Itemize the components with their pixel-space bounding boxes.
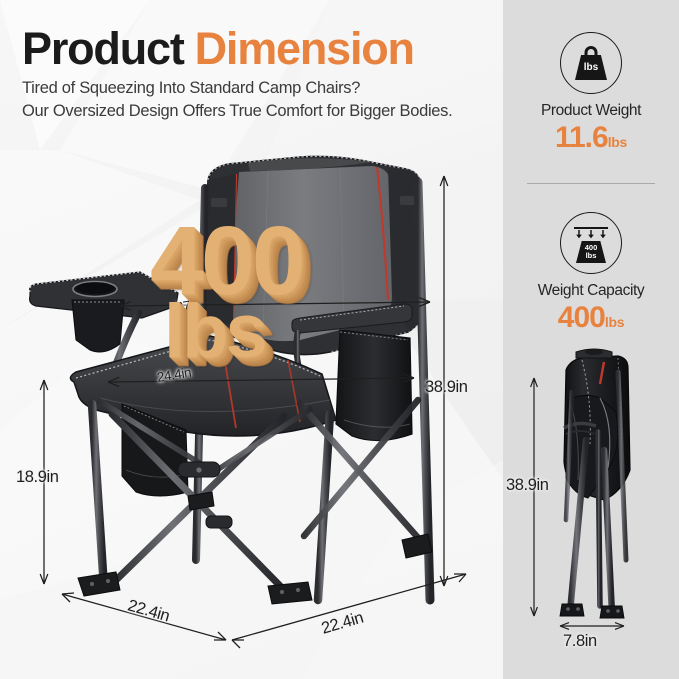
capacity-weight-body-shape: 400lbs <box>576 241 606 263</box>
weight-icon-label: lbs <box>584 63 598 73</box>
capacity-icon-unit: lbs <box>585 252 598 260</box>
weight-capacity-number: 400 <box>558 301 605 334</box>
badge-weight-capacity-label: Weight Capacity <box>503 282 679 300</box>
badge-weight-capacity: 400lbs Weight Capacity 400lbs <box>503 212 679 335</box>
weight-body-shape: lbs <box>575 55 607 80</box>
sidebar-divider <box>527 183 655 184</box>
weight-capacity-unit: lbs <box>605 314 624 330</box>
subtitle-line-2: Our Oversized Design Offers True Comfort… <box>22 101 492 123</box>
capacity-load-bar <box>574 227 608 229</box>
dimension-seat-height: 18.9in <box>16 468 59 487</box>
weight-capacity-icon: 400lbs <box>560 212 622 274</box>
capacity-icon-labels: 400lbs <box>585 244 598 260</box>
dimension-folded-height: 38.9in <box>506 476 549 495</box>
badge-product-weight-value: 11.6lbs <box>503 121 679 155</box>
capacity-down-arrows-icon <box>574 230 608 240</box>
badge-weight-capacity-value: 400lbs <box>503 301 679 335</box>
subtitle-line-1: Tired of Squeezing Into Standard Camp Ch… <box>22 78 492 100</box>
infographic-canvas: ProductDimension Tired of Squeezing Into… <box>0 0 679 679</box>
page-title: ProductDimension <box>22 26 492 71</box>
dimension-overall-height: 38.9in <box>425 378 468 397</box>
title-part-product: Product <box>22 23 184 74</box>
title-part-dimension: Dimension <box>195 23 414 74</box>
product-weight-unit: lbs <box>608 134 627 150</box>
weight-plate-icon: lbs <box>560 32 622 94</box>
header: ProductDimension Tired of Squeezing Into… <box>22 26 492 123</box>
product-weight-number: 11.6 <box>555 121 608 154</box>
capacity-overlay-text: 400 lbs <box>150 222 303 362</box>
badge-product-weight: lbs Product Weight 11.6lbs <box>503 32 679 155</box>
dimension-folded-width: 7.8in <box>563 632 597 651</box>
badge-product-weight-label: Product Weight <box>503 102 679 120</box>
